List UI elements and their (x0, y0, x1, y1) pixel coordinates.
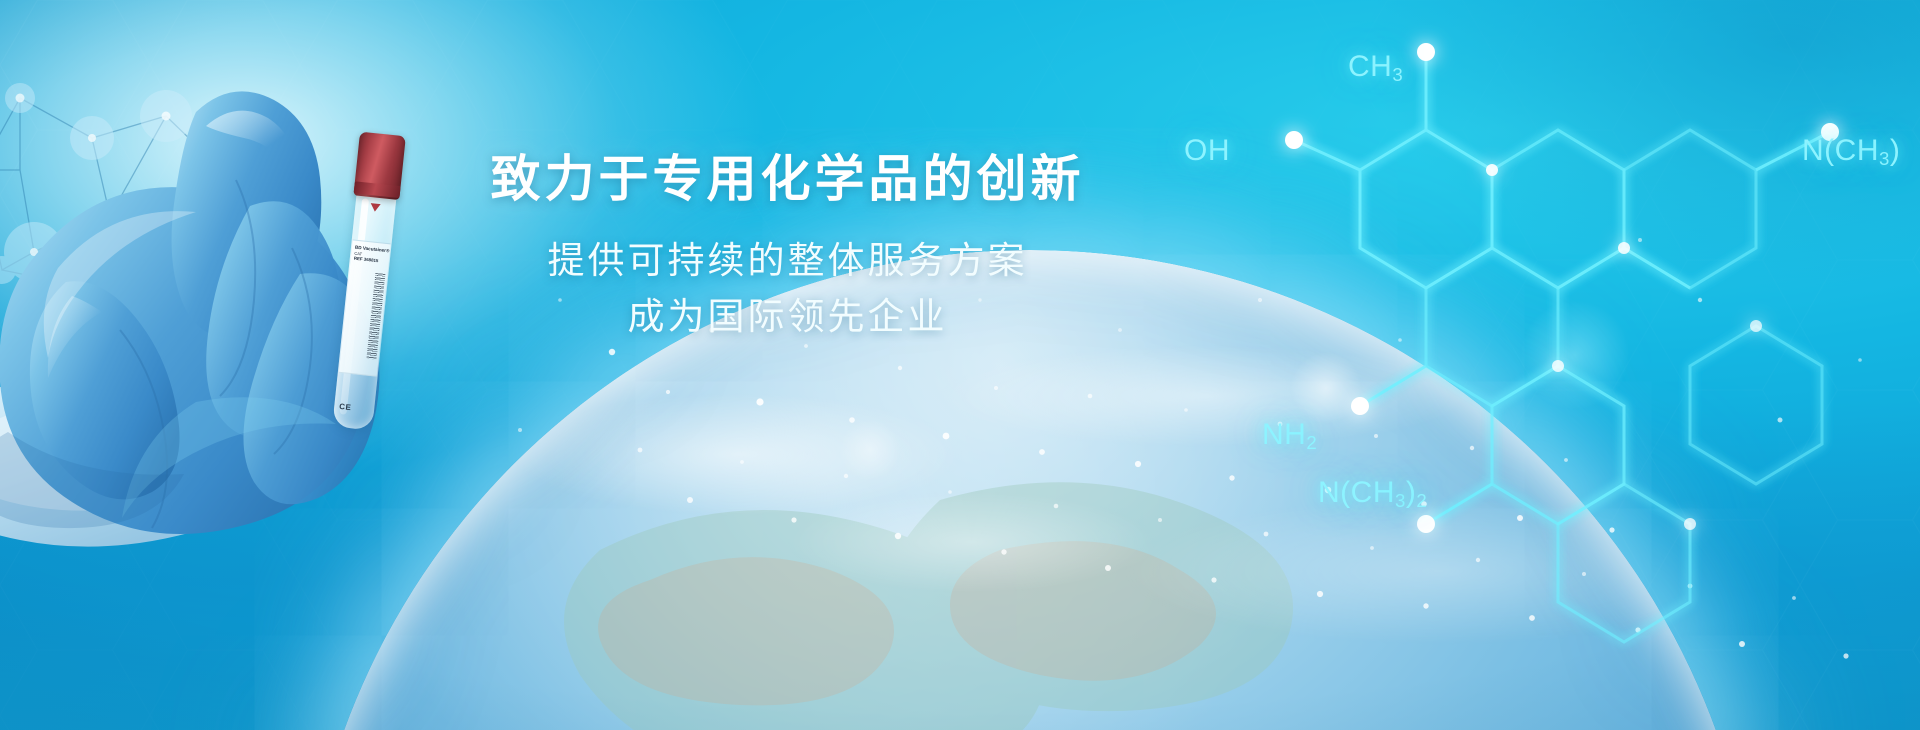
tube-fill-arrow (370, 203, 381, 212)
gloved-hand-icon (0, 0, 520, 730)
tube-barcode (366, 273, 385, 360)
tube-label: BD Vacutainer® CAT REF 368815 (339, 239, 391, 376)
chemical-structure-icon (1190, 0, 1920, 730)
hero-banner: CH3 OH N(CH3) NH2 N(CH3)2 (0, 0, 1920, 730)
tube-ce-mark: CE (339, 402, 352, 412)
